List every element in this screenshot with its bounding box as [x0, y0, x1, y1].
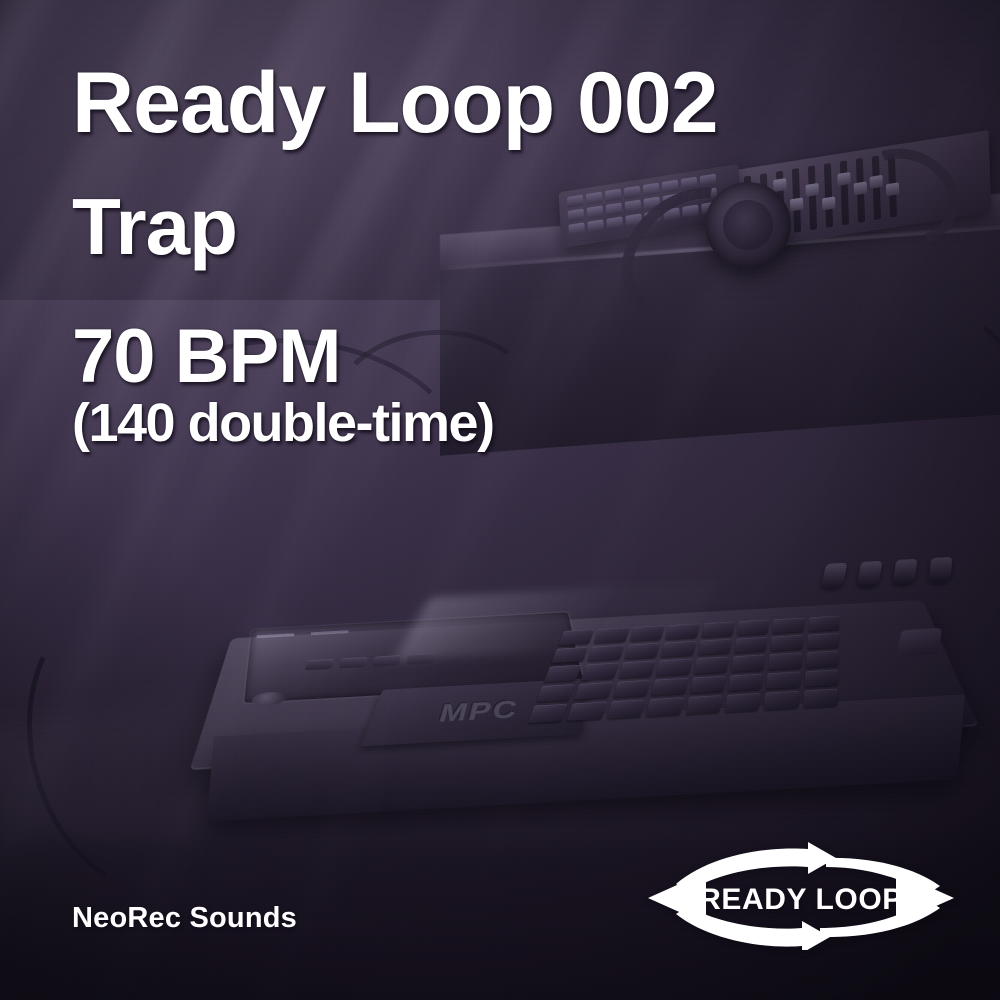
cover-title: Ready Loop 002	[72, 62, 972, 145]
cover-bpm: 70 BPM	[72, 321, 972, 394]
ready-loop-logo: READY LOOP	[640, 842, 962, 950]
cover-genre: Trap	[72, 189, 972, 266]
ready-loop-wordmark: READY LOOP	[699, 883, 903, 916]
album-cover-artwork: MPC Ready Loop 002 Trap 70 BPM (140 doub…	[0, 0, 1000, 1000]
cover-text-stack: Ready Loop 002 Trap 70 BPM (140 double-t…	[72, 62, 972, 450]
cover-bpm-note: (140 double-time)	[72, 398, 972, 450]
publisher-label: NeoRec Sounds	[72, 902, 297, 935]
